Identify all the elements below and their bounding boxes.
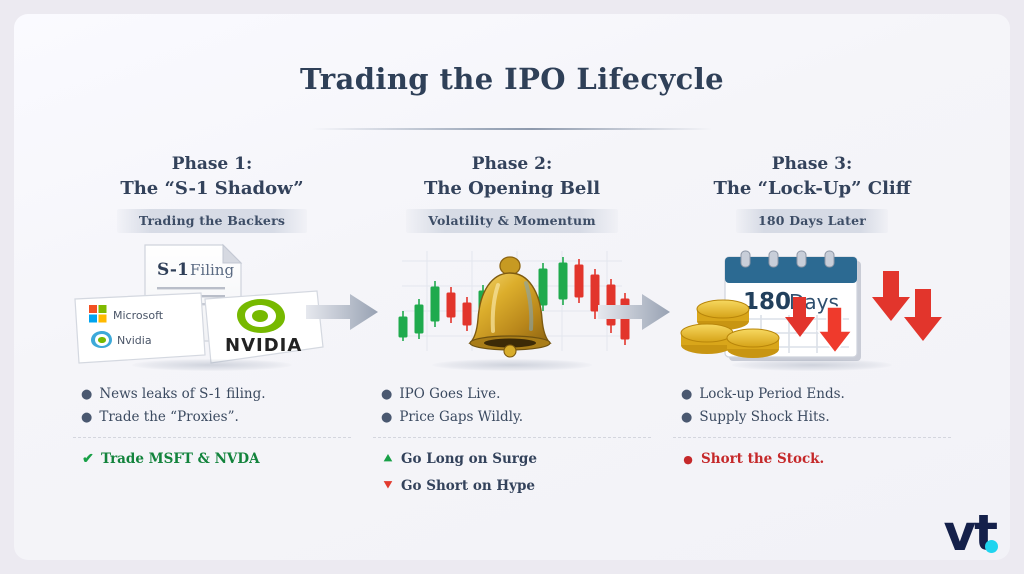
- arrow-down-icon: ⯆: [379, 473, 397, 500]
- brand-logo: vt: [944, 510, 999, 556]
- phase-3-actions: ● Short the Stock.: [667, 438, 957, 473]
- phase-3-label: Phase 3:: [667, 152, 957, 176]
- phase-2-label: Phase 2:: [367, 152, 657, 176]
- phase-2-name: The Opening Bell: [367, 176, 657, 202]
- action-text: Short the Stock.: [701, 446, 824, 473]
- bullet-text: Price Gaps Wildly.: [399, 406, 523, 429]
- lockup-calendar-illustration: 180 Days: [667, 241, 957, 373]
- svg-text:NVIDIA: NVIDIA: [225, 335, 302, 356]
- action-item: ✔ Trade MSFT & NVDA: [79, 446, 353, 473]
- calendar-icon: 180 Days: [667, 241, 957, 373]
- bullet-dot-icon: ●: [81, 406, 92, 429]
- bell-icon: [470, 257, 550, 357]
- phase-2-bullets: ●IPO Goes Live. ●Price Gaps Wildly.: [367, 373, 657, 429]
- phase-3-badge: 180 Days Later: [736, 209, 888, 233]
- list-item: ●IPO Goes Live.: [381, 383, 653, 406]
- action-text: Trade MSFT & NVDA: [101, 446, 260, 473]
- bullet-text: IPO Goes Live.: [399, 383, 500, 406]
- list-item: ●Price Gaps Wildly.: [381, 406, 653, 429]
- doc-title-strong: S-1: [157, 260, 189, 280]
- phase-3-name: The “Lock-Up” Cliff: [667, 176, 957, 202]
- action-item: ⯅ Go Long on Surge: [379, 446, 653, 473]
- check-icon: ✔: [79, 446, 97, 473]
- illustration-shadow: [132, 359, 292, 371]
- action-item: ● Short the Stock.: [679, 446, 953, 473]
- page-title: Trading the IPO Lifecycle: [0, 62, 1024, 96]
- bullet-dot-icon: ●: [381, 406, 392, 429]
- bullet-dot-icon: ●: [81, 383, 92, 406]
- list-item: ●Trade the “Proxies”.: [81, 406, 353, 429]
- list-item: ●News leaks of S-1 filing.: [81, 383, 353, 406]
- doc-title-light: Filing: [190, 261, 234, 279]
- phase-1-actions: ✔ Trade MSFT & NVDA: [67, 438, 357, 473]
- phase-2-badge: Volatility & Momentum: [406, 209, 618, 233]
- bullet-text: Lock-up Period Ends.: [699, 383, 845, 406]
- phase-3-bullets: ●Lock-up Period Ends. ●Supply Shock Hits…: [667, 373, 957, 429]
- phase-1-badge: Trading the Backers: [117, 209, 307, 233]
- phase-1-label: Phase 1:: [67, 152, 357, 176]
- svg-text:Nvidia: Nvidia: [117, 334, 152, 347]
- bullet-dot-icon: ●: [679, 446, 697, 473]
- bullet-dot-icon: ●: [381, 383, 392, 406]
- arrow-right-icon: [596, 290, 672, 334]
- illustration-shadow: [432, 359, 592, 371]
- title-divider: [312, 128, 712, 130]
- svg-text:Microsoft: Microsoft: [113, 309, 164, 322]
- connector-arrow-2: [596, 290, 672, 334]
- phase-2-actions: ⯅ Go Long on Surge ⯆ Go Short on Hype: [367, 438, 657, 500]
- bullet-text: Supply Shock Hits.: [699, 406, 829, 429]
- action-text: Go Long on Surge: [401, 446, 537, 473]
- calendar-number: 180: [743, 289, 791, 315]
- brand-logo-dot-icon: [985, 540, 998, 553]
- action-item: ⯆ Go Short on Hype: [379, 473, 653, 500]
- arrow-up-icon: ⯅: [379, 446, 397, 473]
- illustration-shadow: [732, 359, 892, 371]
- bullet-text: News leaks of S-1 filing.: [99, 383, 265, 406]
- phase-column-3: Phase 3: The “Lock-Up” Cliff 180 Days La…: [667, 152, 957, 473]
- list-item: ●Supply Shock Hits.: [681, 406, 953, 429]
- phase-1-bullets: ●News leaks of S-1 filing. ●Trade the “P…: [67, 373, 357, 429]
- bullet-text: Trade the “Proxies”.: [99, 406, 238, 429]
- phase-1-name: The “S-1 Shadow”: [67, 176, 357, 202]
- infographic-canvas: Trading the IPO Lifecycle Phase 1: The “…: [0, 0, 1024, 574]
- list-item: ●Lock-up Period Ends.: [681, 383, 953, 406]
- bullet-dot-icon: ●: [681, 383, 692, 406]
- action-text: Go Short on Hype: [401, 473, 535, 500]
- bullet-dot-icon: ●: [681, 406, 692, 429]
